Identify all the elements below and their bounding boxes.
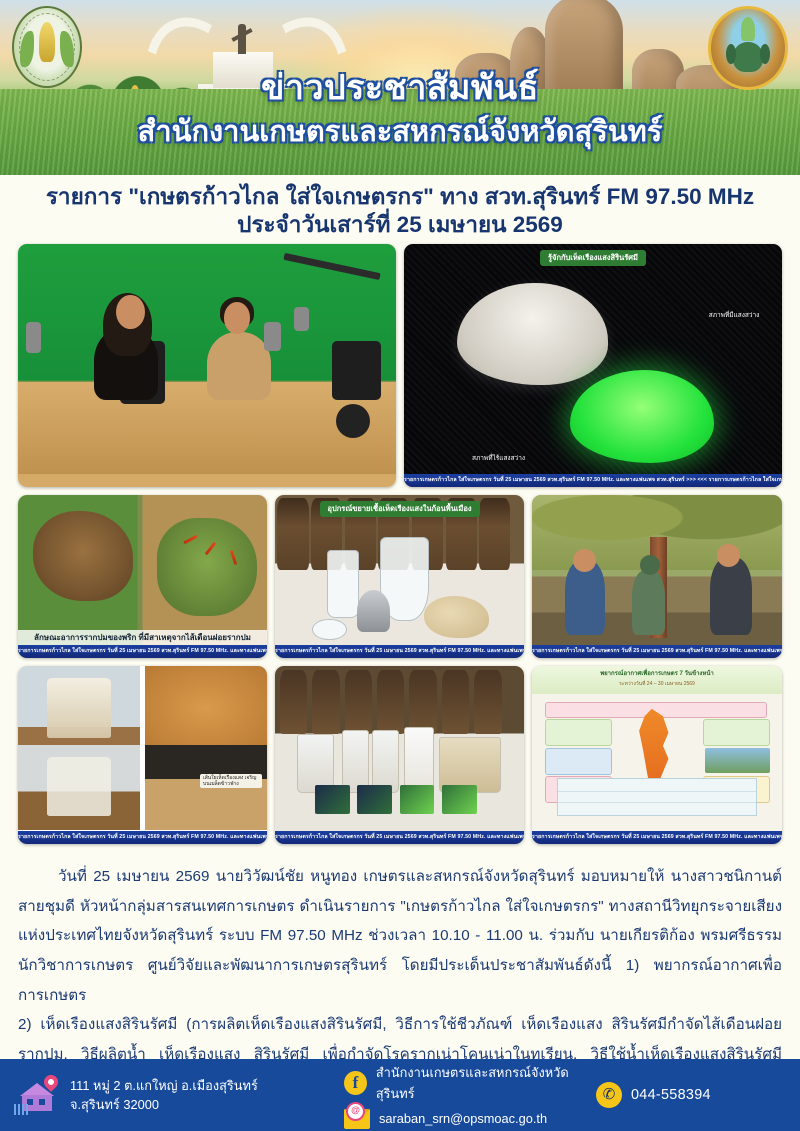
footer-address-block: 111 หมู่ 2 ต.แกใหญ่ อ.เมืองสุรินทร์ จ.สุ… — [14, 1075, 344, 1115]
microphone-left — [26, 322, 41, 354]
microphone-right — [294, 307, 309, 331]
chili-root-galls — [33, 511, 133, 601]
product-bottle-white — [404, 727, 433, 793]
headphones — [336, 404, 370, 438]
product-bag-7 — [474, 670, 501, 734]
photo-radio-studio-hosts — [18, 244, 396, 487]
footer-bar: 111 หมู่ 2 ต.แกใหญ่ อ.เมืองสุรินทร์ จ.สุ… — [0, 1059, 800, 1131]
header-banner: ข่าวประชาสัมพันธ์ สำนักงานเกษตรและสหกรณ์… — [0, 0, 800, 175]
product-bag-1 — [280, 670, 307, 734]
substrate-bag-1 — [277, 498, 308, 570]
petri-dish — [312, 619, 346, 641]
product-leaflet-3 — [400, 785, 435, 813]
product-bag-3 — [345, 670, 372, 734]
photo-ticker-caption: รายการเกษตรก้าวไกล ใส่ใจเกษตรกร วันที่ 2… — [275, 831, 524, 844]
product-leaflet-2 — [357, 785, 392, 813]
mushroom-photo-badge: รู้จักกับเห็ดเรืองแสงสิรินรัศมี — [540, 250, 646, 266]
product-bottle-2 — [372, 730, 399, 793]
seal-indra-figure — [741, 17, 755, 41]
photo-substrate-products: เส้นใยเห็ดเรืองแสง เจริญบนเมล็ดข้าวฟ่าง … — [18, 666, 267, 844]
product-bag-4 — [377, 670, 404, 734]
banner-title: ข่าวประชาสัมพันธ์ — [0, 60, 800, 114]
infographic-header: พยากรณ์อากาศเพื่อการเกษตร 7 วันข้างหน้า … — [532, 666, 782, 694]
studio-host-male — [207, 332, 271, 400]
infographic-panel-green-right — [703, 719, 770, 746]
collage-panel-clear-bag — [18, 745, 140, 830]
footer-facebook-line[interactable]: f สำนักงานเกษตรและสหกรณ์จังหวัดสุรินทร์ — [344, 1062, 596, 1104]
email-address[interactable]: saraban_srn@opsmoac.go.th — [379, 1111, 547, 1126]
photo-weather-infographic: พยากรณ์อากาศเพื่อการเกษตร 7 วันข้างหน้า … — [532, 666, 782, 844]
product-jar — [297, 734, 334, 793]
program-title-line2: ประจำวันเสาร์ที่ 25 เมษายน 2569 — [0, 211, 800, 239]
photo-bioluminescent-mushroom: รู้จักกับเห็ดเรืองแสงสิรินรัศมี สภาพที่ม… — [404, 244, 782, 487]
orchard-person-right-head — [717, 544, 740, 567]
photo-row-3: เส้นใยเห็ดเรืองแสง เจริญบนเมล็ดข้าวฟ่าง … — [18, 666, 782, 844]
photo-durian-orchard: รายการเกษตรก้าวไกล ใส่ใจเกษตรกร วันที่ 2… — [532, 495, 782, 658]
collage-panel-mycelium: เส้นใยเห็ดเรืองแสง เจริญบนเมล็ดข้าวฟ่าง — [145, 745, 267, 830]
clear-plastic-bag — [47, 757, 110, 817]
monument-statue — [238, 24, 246, 54]
mic-boom-arm — [283, 253, 381, 281]
phone-icon[interactable]: ✆ — [596, 1082, 622, 1108]
footer-email-line[interactable]: @ saraban_srn@opsmoac.go.th — [344, 1109, 596, 1129]
program-title-line1: รายการ "เกษตรก้าวไกล ใส่ใจเกษตรกร" ทาง ส… — [0, 183, 800, 211]
infographic-title: พยากรณ์อากาศเพื่อการเกษตร 7 วันข้างหน้า — [532, 668, 782, 678]
photo-ticker-caption: รายการเกษตรก้าวไกล ใส่ใจเกษตรกร วันที่ 2… — [18, 831, 267, 844]
photo-grid: รู้จักกับเห็ดเรืองแสงสิรินรัศมี สภาพที่ม… — [18, 244, 782, 852]
photo-ticker-caption: รายการเกษตรก้าวไกล ใส่ใจเกษตรกร วันที่ 2… — [532, 645, 782, 658]
orchard-person-left-head — [573, 549, 596, 572]
infographic-date: ระหว่างวันที่ 24 – 30 เมษายน 2569 — [532, 680, 782, 688]
house-bars-decor — [14, 1104, 30, 1115]
emblem-deity-figure — [39, 22, 55, 62]
product-substrate-block — [439, 737, 501, 792]
photo-bio-product-display: รายการเกษตรก้าวไกล ใส่ใจเกษตรกร วันที่ 2… — [275, 666, 524, 844]
infographic-forecast-table — [557, 778, 757, 816]
orchard-person-center-head — [640, 555, 660, 575]
program-title-block: รายการ "เกษตรก้าวไกล ใส่ใจเกษตรกร" ทาง ส… — [0, 183, 800, 239]
infographic-photo-strip — [705, 748, 770, 773]
chili-plant-field — [157, 518, 257, 616]
host-male-head — [224, 302, 250, 334]
photo-ticker-caption: รายการเกษตรก้าวไกล ใส่ใจเกษตรกร วันที่ 2… — [275, 645, 524, 658]
spawn-photo-badge: อุปกรณ์ขยายเชื้อเห็ดเรืองแสงในก้อนพื้นเม… — [320, 501, 480, 517]
house-location-icon — [14, 1075, 60, 1115]
footer-contact-block: f สำนักงานเกษตรและสหกรณ์จังหวัดสุรินทร์ … — [344, 1062, 596, 1129]
chili-photo-caption: ลักษณะอาการรากปมของพริก ที่มีสาเหตุจากไส… — [18, 630, 267, 645]
footer-address-text: 111 หมู่ 2 ต.แกใหญ่ อ.เมืองสุรินทร์ จ.สุ… — [70, 1076, 258, 1114]
facebook-icon[interactable]: f — [344, 1071, 367, 1095]
culture-bottle — [327, 550, 359, 617]
substrate-bag-product — [47, 678, 110, 738]
collage-panel-bagged-substrate — [18, 666, 140, 751]
footer-phone-block[interactable]: ✆ 044-558394 — [596, 1082, 786, 1108]
forecast-table-row-3 — [558, 802, 756, 814]
collage-panel-loose-substrate — [145, 666, 267, 751]
product-bag-6 — [442, 670, 469, 734]
product-leaflet-1 — [315, 785, 350, 813]
mushroom-glowing-dark — [570, 370, 714, 462]
address-line-1: 111 หมู่ 2 ต.แกใหญ่ อ.เมืองสุรินทร์ — [70, 1076, 258, 1095]
photo-ticker-caption: รายการเกษตรก้าวไกล ใส่ใจเกษตรกร วันที่ 2… — [404, 474, 782, 487]
product-leaflet-4 — [442, 785, 477, 813]
grain-bag — [424, 596, 489, 638]
banner-subtitle: สำนักงานเกษตรและสหกรณ์จังหวัดสุรินทร์ — [0, 108, 800, 154]
infographic-photo-strip-left — [545, 748, 610, 773]
house-window-right — [39, 1099, 45, 1105]
product-bottle-1 — [342, 730, 369, 793]
phone-number[interactable]: 044-558394 — [631, 1087, 711, 1103]
product-bag-2 — [312, 670, 339, 734]
product-bag-5 — [409, 670, 436, 734]
facebook-page-name[interactable]: สำนักงานเกษตรและสหกรณ์จังหวัดสุรินทร์ — [376, 1062, 596, 1104]
photo-spawn-equipment: อุปกรณ์ขยายเชื้อเห็ดเรืองแสงในก้อนพื้นเม… — [275, 495, 524, 658]
at-symbol-icon: @ — [346, 1102, 365, 1121]
poster-page: ข่าวประชาสัมพันธ์ สำนักงานเกษตรและสหกรณ์… — [0, 0, 800, 1131]
photo-ticker-caption: รายการเกษตรก้าวไกล ใส่ใจเกษตรกร วันที่ 2… — [18, 645, 267, 658]
photo-row-2: ลักษณะอาการรากปมของพริก ที่มีสาเหตุจากไส… — [18, 495, 782, 658]
label-dark-condition: สภาพที่ไร้แสงสว่าง — [472, 453, 525, 463]
mycelium-label: เส้นใยเห็ดเรืองแสง เจริญบนเมล็ดข้าวฟ่าง — [200, 774, 262, 789]
email-icon[interactable]: @ — [344, 1109, 370, 1129]
microphone-center — [264, 322, 281, 351]
label-light-condition: สภาพที่มีแสงสว่าง — [709, 310, 760, 320]
article-paragraph-1: วันที่ 25 เมษายน 2569 นายวิวัฒน์ชัย หนูท… — [18, 862, 782, 1010]
alcohol-burner — [357, 590, 389, 632]
photo-ticker-caption: รายการเกษตรก้าวไกล ใส่ใจเกษตรกร วันที่ 2… — [532, 831, 782, 844]
studio-chair-right — [332, 341, 381, 399]
orchard-person-right — [710, 557, 753, 635]
photo-row-1: รู้จักกับเห็ดเรืองแสงสิรินรัศมี สภาพที่ม… — [18, 244, 782, 487]
substrate-bag-7 — [479, 498, 510, 570]
infographic-panel-green — [545, 719, 612, 746]
orchard-person-center — [632, 570, 665, 635]
host-female-head — [116, 295, 144, 329]
address-line-2: จ.สุรินทร์ 32000 — [70, 1095, 258, 1114]
photo-chili-root-knot: ลักษณะอาการรากปมของพริก ที่มีสาเหตุจากไส… — [18, 495, 267, 658]
